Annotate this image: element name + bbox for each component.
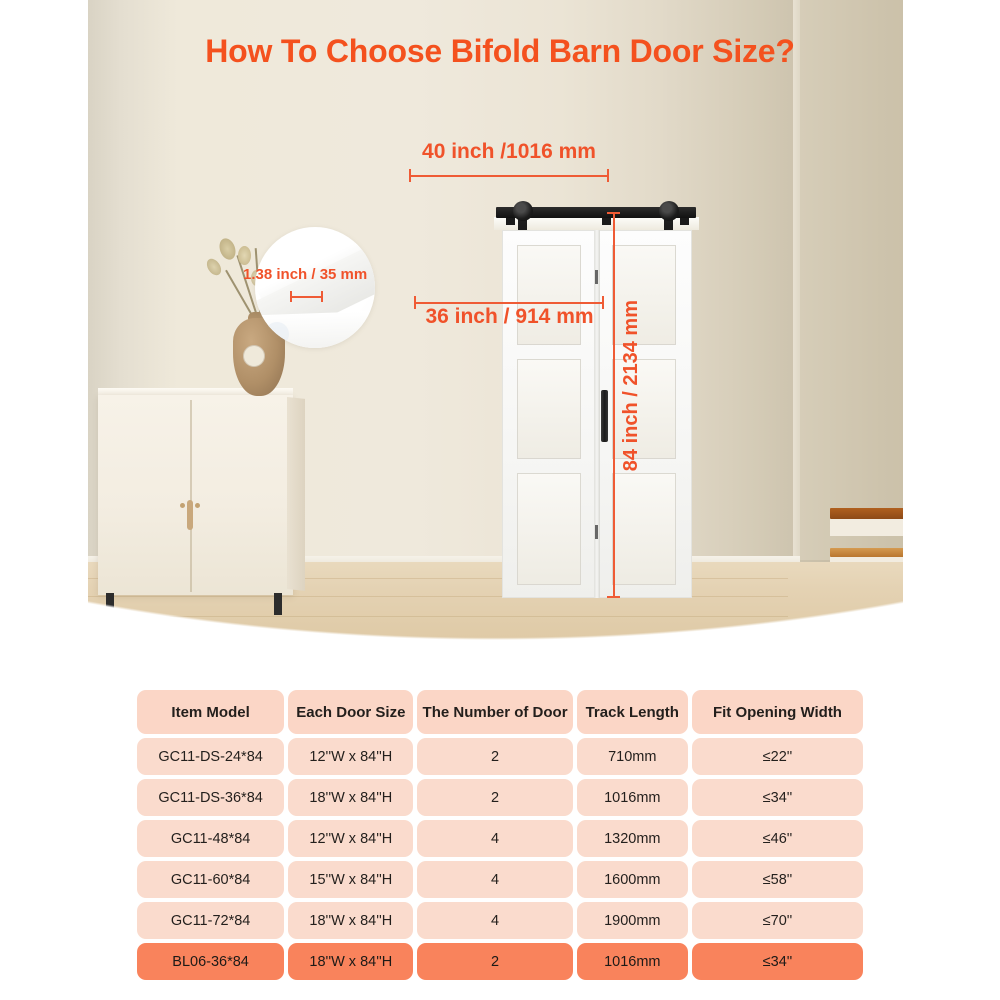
vase-handle-opening xyxy=(243,345,265,367)
cell-track-length: 1016mm xyxy=(577,943,688,980)
cabinet-knob-left[interactable] xyxy=(180,503,185,508)
door-leaf-left[interactable] xyxy=(502,230,597,598)
cell-fit-opening-width: ≤34'' xyxy=(692,943,863,980)
stair-tread-upper xyxy=(830,508,903,519)
track-mount xyxy=(506,218,515,225)
roller-hanger-right xyxy=(659,201,679,221)
table-header-row: Item Model Each Door Size The Number of … xyxy=(137,690,863,734)
cell-number-of-door: 2 xyxy=(417,943,572,980)
glass-pane xyxy=(517,359,581,459)
door-height-label: 84 inch / 2134 mm xyxy=(620,300,643,471)
cell-number-of-door: 4 xyxy=(417,861,572,898)
cabinet-leg-right xyxy=(274,593,282,615)
cell-each-door-size: 18''W x 84''H xyxy=(288,779,413,816)
cell-each-door-size: 18''W x 84''H xyxy=(288,902,413,939)
door-width-dimension-line xyxy=(414,302,604,304)
infographic-page: How To Choose Bifold Barn Door Size? 40 … xyxy=(0,0,1000,1000)
cell-item-model: BL06-36*84 xyxy=(137,943,284,980)
cell-item-model: GC11-72*84 xyxy=(137,902,284,939)
track-width-tick-left xyxy=(409,169,411,182)
door-handle[interactable] xyxy=(601,390,608,442)
cell-number-of-door: 2 xyxy=(417,738,572,775)
cell-track-length: 1600mm xyxy=(577,861,688,898)
door-hinge-top xyxy=(595,270,598,284)
door-edge-highlight xyxy=(265,322,289,346)
glass-pane xyxy=(517,473,581,585)
glass-pane xyxy=(517,245,581,345)
cell-track-length: 1016mm xyxy=(577,779,688,816)
table-row-highlighted[interactable]: BL06-36*84 18''W x 84''H 2 1016mm ≤34'' xyxy=(137,943,863,980)
track-width-label: 40 inch /1016 mm xyxy=(414,140,604,164)
cell-track-length: 1900mm xyxy=(577,902,688,939)
door-leaf-right[interactable] xyxy=(597,230,692,598)
thickness-tick-left xyxy=(290,291,292,302)
wall-right-section xyxy=(800,0,903,560)
door-fold-seam xyxy=(594,230,600,598)
track-mount xyxy=(680,218,689,225)
bifold-barn-door xyxy=(502,195,692,598)
thickness-callout-circle xyxy=(255,227,375,348)
stair-riser-upper xyxy=(830,518,903,536)
cabinet-side-panel xyxy=(287,397,305,591)
cell-number-of-door: 2 xyxy=(417,779,572,816)
table-row[interactable]: GC11-DS-36*84 18''W x 84''H 2 1016mm ≤34… xyxy=(137,779,863,816)
cell-number-of-door: 4 xyxy=(417,820,572,857)
page-title: How To Choose Bifold Barn Door Size? xyxy=(0,33,1000,70)
cell-fit-opening-width: ≤70'' xyxy=(692,902,863,939)
glass-pane xyxy=(612,473,676,585)
door-hinge-bottom xyxy=(595,525,598,539)
cell-item-model: GC11-48*84 xyxy=(137,820,284,857)
floor-seam xyxy=(88,616,788,617)
cell-each-door-size: 18''W x 84''H xyxy=(288,943,413,980)
cell-fit-opening-width: ≤58'' xyxy=(692,861,863,898)
table-row[interactable]: GC11-60*84 15''W x 84''H 4 1600mm ≤58'' xyxy=(137,861,863,898)
roller-hanger-left xyxy=(513,201,533,221)
height-dimension-tick-top xyxy=(607,212,620,214)
cell-number-of-door: 4 xyxy=(417,902,572,939)
cabinet xyxy=(98,395,293,595)
cell-each-door-size: 15''W x 84''H xyxy=(288,861,413,898)
table-row[interactable]: GC11-48*84 12''W x 84''H 4 1320mm ≤46'' xyxy=(137,820,863,857)
column-header-track-length: Track Length xyxy=(577,690,688,734)
cell-each-door-size: 12''W x 84''H xyxy=(288,738,413,775)
cell-track-length: 1320mm xyxy=(577,820,688,857)
track-width-dimension-line xyxy=(409,175,609,177)
table-row[interactable]: GC11-DS-24*84 12''W x 84''H 2 710mm ≤22'… xyxy=(137,738,863,775)
thickness-tick-right xyxy=(321,291,323,302)
track-width-tick-right xyxy=(607,169,609,182)
cell-item-model: GC11-60*84 xyxy=(137,861,284,898)
height-dimension-line xyxy=(613,212,615,598)
thickness-label: 1.38 inch / 35 mm xyxy=(243,266,367,283)
cell-fit-opening-width: ≤46'' xyxy=(692,820,863,857)
column-header-item-model: Item Model xyxy=(137,690,284,734)
table-row[interactable]: GC11-72*84 18''W x 84''H 4 1900mm ≤70'' xyxy=(137,902,863,939)
dried-flower xyxy=(238,246,251,265)
cabinet-handle[interactable] xyxy=(187,500,193,530)
cabinet-door-seam xyxy=(190,400,192,592)
column-header-fit-opening-width: Fit Opening Width xyxy=(692,690,863,734)
door-width-label: 36 inch / 914 mm xyxy=(412,305,607,329)
track-mount xyxy=(602,218,611,225)
spec-table: Item Model Each Door Size The Number of … xyxy=(137,690,863,984)
column-header-number-of-door: The Number of Door xyxy=(417,690,572,734)
cabinet-knob-right[interactable] xyxy=(195,503,200,508)
thickness-dimension-line xyxy=(290,296,323,298)
cell-fit-opening-width: ≤34'' xyxy=(692,779,863,816)
cabinet-leg-left xyxy=(106,593,114,615)
column-header-each-door-size: Each Door Size xyxy=(288,690,413,734)
cell-track-length: 710mm xyxy=(577,738,688,775)
cell-each-door-size: 12''W x 84''H xyxy=(288,820,413,857)
cell-item-model: GC11-DS-24*84 xyxy=(137,738,284,775)
stair-tread-lower xyxy=(830,548,903,557)
height-dimension-tick-bottom xyxy=(607,596,620,598)
cell-item-model: GC11-DS-36*84 xyxy=(137,779,284,816)
cell-fit-opening-width: ≤22'' xyxy=(692,738,863,775)
